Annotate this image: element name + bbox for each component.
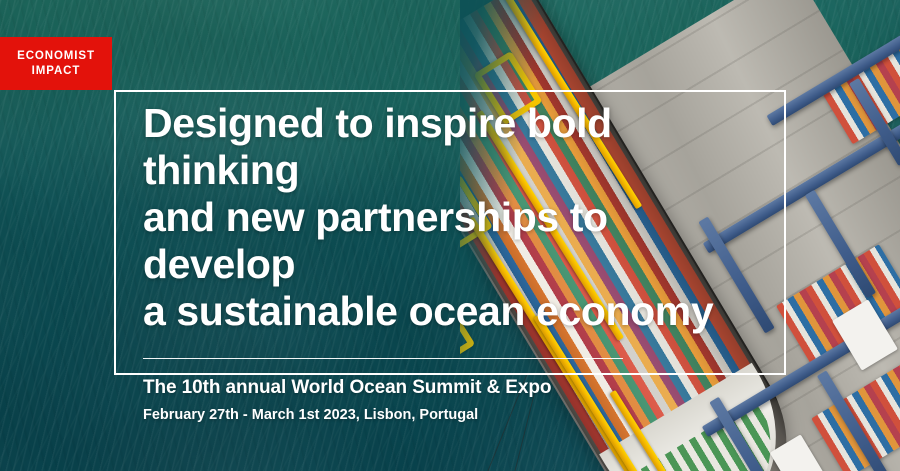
event-name: The 10th annual World Ocean Summit & Exp… <box>143 376 763 400</box>
headline-line-3: a sustainable ocean economy <box>143 288 763 335</box>
economist-impact-logo[interactable]: ECONOMIST IMPACT <box>0 37 112 90</box>
headline-line-2: and new partnerships to develop <box>143 194 763 288</box>
event-promo-banner: ECONOMIST IMPACT Designed to inspire bol… <box>0 0 900 471</box>
event-date-location: February 27th - March 1st 2023, Lisbon, … <box>143 405 763 426</box>
headline: Designed to inspire bold thinking and ne… <box>143 100 763 335</box>
logo-line-economist: ECONOMIST <box>17 49 95 64</box>
logo-line-impact: IMPACT <box>32 64 81 79</box>
headline-line-1: Designed to inspire bold thinking <box>143 100 763 194</box>
divider-rule <box>143 358 623 359</box>
banner-content: Designed to inspire bold thinking and ne… <box>143 100 763 426</box>
